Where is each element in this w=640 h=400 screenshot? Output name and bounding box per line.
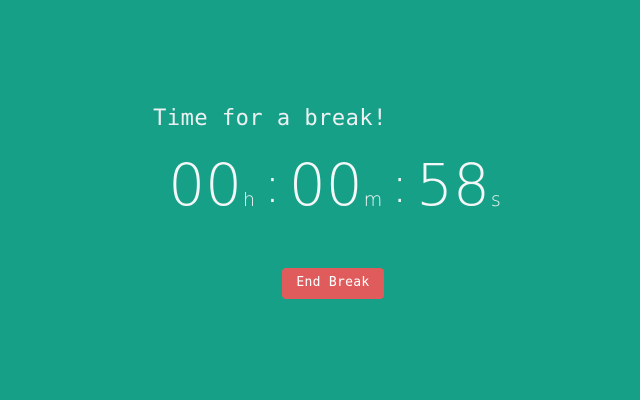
timer-minutes: 00	[289, 151, 363, 219]
break-screen: Time for a break! 00h:00m:58s End Break	[0, 0, 640, 400]
timer-seconds: 58	[416, 151, 490, 219]
end-break-button[interactable]: End Break	[282, 268, 383, 299]
timer-minutes-unit: m	[364, 189, 383, 211]
timer-separator-2: :	[381, 156, 416, 214]
timer-seconds-unit: s	[491, 189, 501, 211]
page-title: Time for a break!	[0, 104, 540, 134]
timer-hours: 00	[168, 151, 242, 219]
timer-separator-1: :	[254, 156, 289, 214]
actions-row: End Break	[0, 268, 640, 299]
countdown-timer: 00h:00m:58s	[0, 150, 640, 220]
